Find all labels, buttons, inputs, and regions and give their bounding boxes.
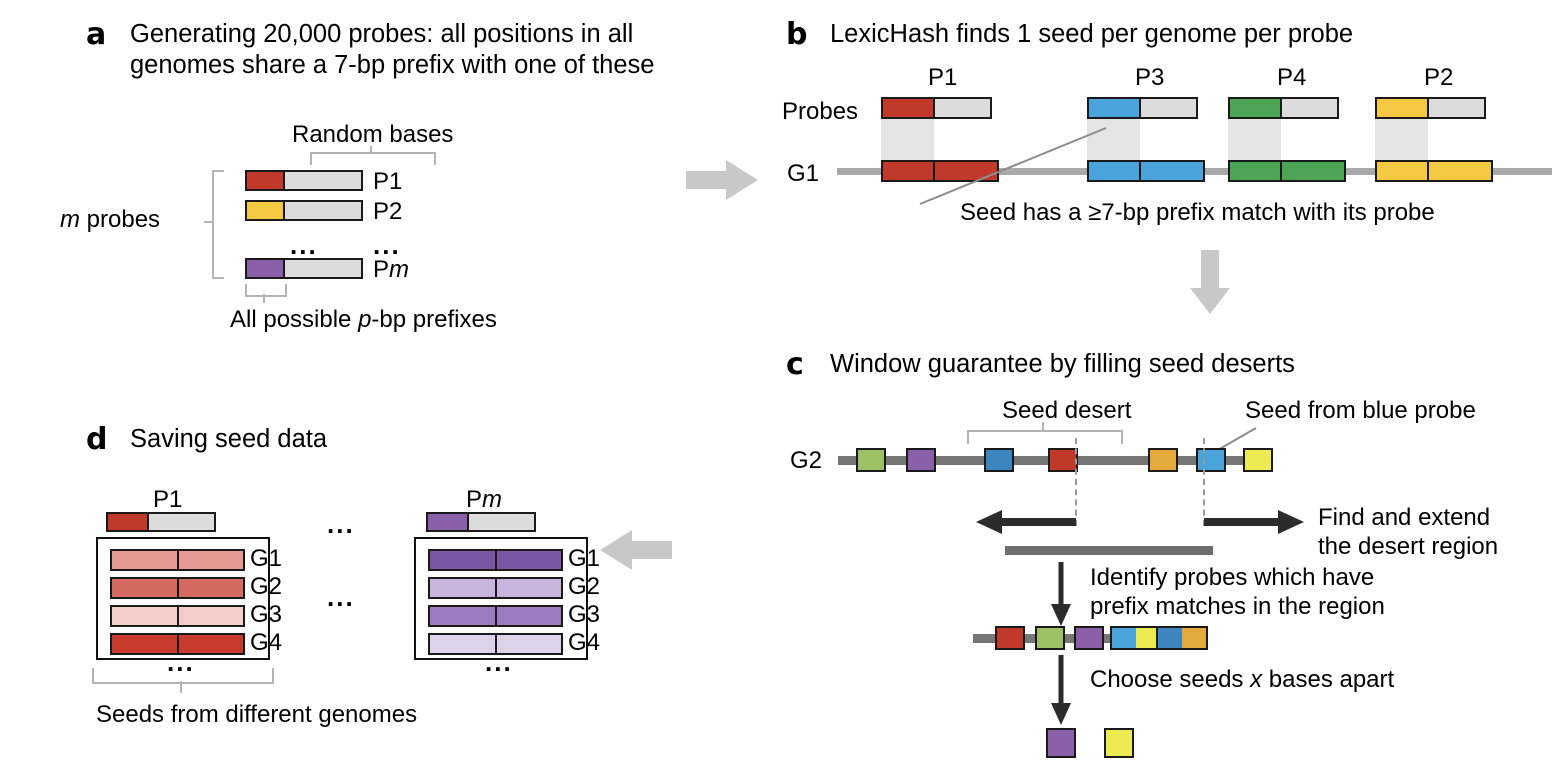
panel-c-chosen-seed-yellow: [1104, 728, 1134, 758]
panel-a-prefix-label-pre: All possible: [230, 306, 358, 333]
panel-c-extend-arrow-left: [976, 508, 1078, 536]
panel-c-region-marker-blue: [1112, 628, 1136, 648]
panel-d-ellipsis-top: ...: [327, 519, 355, 529]
panel-c-choose-label-post: bases apart: [1262, 666, 1394, 693]
panel-b-probe-label-p2: P2: [1424, 66, 1453, 90]
panel-b-probe-label-p4: P4: [1277, 66, 1306, 90]
panel-b-row-label-genome: G1: [787, 162, 819, 186]
panel-b-probe-bar-p4: [1228, 97, 1339, 119]
figure-canvas: a Generating 20,000 probes: all position…: [0, 0, 1564, 764]
flow-arrow-b-to-c: [1188, 250, 1232, 321]
panel-d-seed-row-label-p1-g3: G3: [250, 603, 282, 627]
panel-d-bottom-bracket-tick: [180, 681, 182, 693]
panel-a-probe-label-p1: P1: [373, 170, 402, 194]
panel-a-probe-bar-pm: [245, 258, 363, 279]
panel-b-seed-p2-prefix: [1377, 162, 1429, 180]
panel-a-letter: a: [86, 20, 106, 50]
panel-a-probe-random-p2: [285, 202, 361, 219]
panel-d-seed-pm-g3-b: [497, 607, 562, 625]
panel-a-probes-word: probes: [80, 206, 160, 233]
panel-c-choose-label-ital: x: [1250, 666, 1262, 693]
panel-c-genome-marker-3: [984, 448, 1014, 472]
panel-b-row-label-probes: Probes: [782, 100, 858, 124]
panel-a-bottom-bracket: [245, 284, 287, 297]
panel-d-seed-row-label-pm-g2: G2: [568, 575, 600, 599]
panel-a-prefix-label-ital: p: [358, 306, 371, 333]
panel-b-probe-random-p2: [1429, 99, 1484, 117]
panel-d-probe-bar-pm: [426, 512, 536, 532]
panel-d-seed-bar-pm-g2: [428, 577, 563, 599]
panel-c-desert-bracket-tick: [1042, 422, 1044, 432]
panel-a-prefix-label: All possible p-bp prefixes: [230, 305, 497, 334]
panel-b-probe-bar-p3: [1087, 97, 1198, 119]
panel-c-title: Window guarantee by filling seed deserts: [830, 349, 1530, 380]
panel-c-identify-arrow: [1048, 562, 1074, 628]
panel-d-seed-row-label-pm-g4: G4: [568, 631, 600, 655]
panel-c-letter: c: [786, 350, 804, 380]
panel-d-seed-pm-g1-b: [497, 551, 562, 569]
panel-c-identify-label: Identify probes which have prefix matche…: [1090, 563, 1385, 621]
panel-d-seed-bar-p1-g2: [110, 577, 245, 599]
panel-c-genome-marker-5: [1148, 448, 1178, 472]
panel-b-seed-p3-rest: [1141, 162, 1203, 180]
panel-d-seed-bar-pm-g3: [428, 605, 563, 627]
panel-c-extend-arrow-right: [1202, 508, 1304, 536]
panel-c-choose-label-pre: Choose seeds: [1090, 666, 1250, 693]
panel-c-region-marker-red: [995, 626, 1025, 650]
panel-d-seed-p1-g2-a: [112, 579, 179, 597]
panel-a-probe-prefix-p2: [247, 202, 285, 219]
panel-c-region-marker-olive: [1035, 626, 1065, 650]
panel-a-probe-label-pm: Pm: [373, 258, 409, 282]
panel-d-probe-label-pm: Pm: [466, 488, 502, 512]
panel-b-probe-random-p4: [1282, 99, 1337, 117]
panel-b-seed-p2-rest: [1429, 162, 1491, 180]
panel-b-letter: b: [786, 20, 807, 50]
panel-a-bottom-bracket-tick: [263, 294, 265, 303]
panel-d-probe-random-p1: [149, 514, 214, 530]
flow-arrow-c-to-d: [598, 528, 672, 577]
panel-d-seed-row-label-p1-g2: G2: [250, 575, 282, 599]
panel-c-choose-arrow: [1048, 655, 1074, 727]
panel-c-genome-marker-2: [906, 448, 936, 472]
panel-b-leader-line: [918, 126, 1108, 206]
panel-a-left-bracket: [212, 170, 224, 279]
panel-d-seed-p1-g1-b: [179, 551, 244, 569]
panel-b-probe-label-p3: P3: [1135, 66, 1164, 90]
panel-c-genome-marker-1: [856, 448, 886, 472]
panel-a-random-bases-label: Random bases: [292, 120, 453, 149]
panel-c-region-marker-steel-orange: [1156, 626, 1208, 650]
panel-c-region-marker-steel: [1158, 628, 1182, 648]
panel-d-probe-bar-p1: [106, 512, 216, 532]
panel-c-desert-label: Seed desert: [1002, 396, 1131, 425]
panel-d-seed-p1-g2-b: [179, 579, 244, 597]
panel-c-genome-label: G2: [790, 449, 822, 473]
panel-d-seed-pm-g1-a: [430, 551, 497, 569]
panel-b-probe-prefix-p1: [883, 99, 935, 117]
panel-d-seed-bar-pm-g1: [428, 549, 563, 571]
panel-a-probe-label-pm-pre: P: [373, 256, 389, 283]
panel-d-probe-label-pm-ital: m: [482, 486, 502, 513]
panel-a-probe-label-pm-ital: m: [389, 256, 409, 283]
panel-d-seed-p1-g3-b: [179, 607, 244, 625]
panel-a-probe-bar-p1: [245, 170, 363, 191]
panel-b-probe-random-p3: [1141, 99, 1196, 117]
panel-c-genome-marker-6: [1196, 448, 1226, 472]
panel-a-probe-prefix-pm: [247, 260, 285, 277]
panel-c-region-marker-blue-yellow: [1110, 626, 1162, 650]
panel-a-prefix-label-post: -bp prefixes: [371, 306, 496, 333]
panel-b-seed-p4-prefix: [1230, 162, 1282, 180]
panel-b-probe-bar-p1: [881, 97, 992, 119]
panel-a-m-probes-label: m probes: [60, 205, 160, 234]
panel-d-title: Saving seed data: [130, 424, 530, 455]
panel-b-probe-label-p1: P1: [928, 66, 957, 90]
panel-c-genome-marker-4: [1048, 448, 1078, 472]
panel-b-seed-p2: [1375, 160, 1493, 182]
panel-c-region-marker-orange: [1182, 628, 1206, 648]
panel-b-probe-random-p1: [935, 99, 990, 117]
panel-c-extended-region-bar: [1005, 546, 1213, 555]
panel-c-blue-seed-label: Seed from blue probe: [1245, 396, 1476, 425]
panel-d-seed-pm-g3-a: [430, 607, 497, 625]
panel-b-title: LexicHash finds 1 seed per genome per pr…: [830, 19, 1550, 50]
panel-d-seed-pm-g2-b: [497, 579, 562, 597]
panel-c-chosen-seed-purple: [1046, 728, 1076, 758]
panel-c-genome-marker-7: [1243, 448, 1273, 472]
flow-arrow-a-to-b: [686, 158, 760, 207]
panel-b-probe-prefix-p4: [1230, 99, 1282, 117]
panel-a-left-bracket-tick: [204, 221, 213, 223]
panel-b-caption: Seed has a ≥7-bp prefix match with its p…: [960, 198, 1435, 227]
panel-a-probe-label-p2: P2: [373, 200, 402, 224]
panel-c-choose-label: Choose seeds x bases apart: [1090, 665, 1394, 694]
panel-b-probe-bar-p2: [1375, 97, 1486, 119]
panel-d-seed-row-label-p1-g4: G4: [250, 631, 282, 655]
panel-d-probe-label-p1: P1: [153, 488, 182, 512]
panel-a-probe-prefix-p1: [247, 172, 285, 189]
panel-a-top-bracket: [310, 152, 436, 165]
panel-a-bar-ellipsis: ...: [290, 240, 318, 250]
panel-d-seed-row-label-pm-g1: G1: [568, 547, 600, 571]
panel-d-seed-pm-g2-a: [430, 579, 497, 597]
panel-d-bracket-label: Seeds from different genomes: [96, 700, 417, 729]
panel-b-seed-p4: [1228, 160, 1346, 182]
panel-d-box-ellipsis-p1: ...: [167, 657, 195, 667]
panel-d-seed-bar-p1-g1: [110, 549, 245, 571]
panel-a-label-ellipsis: ...: [373, 240, 401, 250]
panel-d-seed-row-label-pm-g3: G3: [568, 603, 600, 627]
panel-a-probe-random-p1: [285, 172, 361, 189]
panel-c-region-marker-purple: [1074, 626, 1104, 650]
panel-d-probe-prefix-p1: [108, 514, 149, 530]
panel-c-desert-bracket: [967, 430, 1123, 444]
panel-a-title: Generating 20,000 probes: all positions …: [130, 19, 750, 81]
panel-d-letter: d: [86, 425, 107, 455]
panel-d-box-ellipsis-pm: ...: [485, 657, 513, 667]
panel-d-ellipsis-mid: ...: [327, 592, 355, 602]
panel-d-probe-prefix-pm: [428, 514, 469, 530]
panel-a-top-bracket-tick: [370, 146, 372, 154]
panel-a-probe-random-pm: [285, 260, 361, 277]
panel-d-probe-label-pm-pre: P: [466, 486, 482, 513]
panel-b-probe-prefix-p3: [1089, 99, 1141, 117]
panel-d-seed-p1-g1-a: [112, 551, 179, 569]
panel-b-seed-p4-rest: [1282, 162, 1344, 180]
panel-d-probe-random-pm: [469, 514, 534, 530]
panel-a-probe-bar-p2: [245, 200, 363, 221]
panel-c-extend-label: Find and extend the desert region: [1318, 503, 1498, 561]
panel-d-seed-bar-p1-g3: [110, 605, 245, 627]
panel-d-seed-p1-g3-a: [112, 607, 179, 625]
panel-d-bottom-bracket: [92, 668, 274, 684]
panel-a-m-symbol: m: [60, 206, 80, 233]
panel-d-seed-row-label-p1-g1: G1: [250, 547, 282, 571]
panel-b-probe-prefix-p2: [1377, 99, 1429, 117]
